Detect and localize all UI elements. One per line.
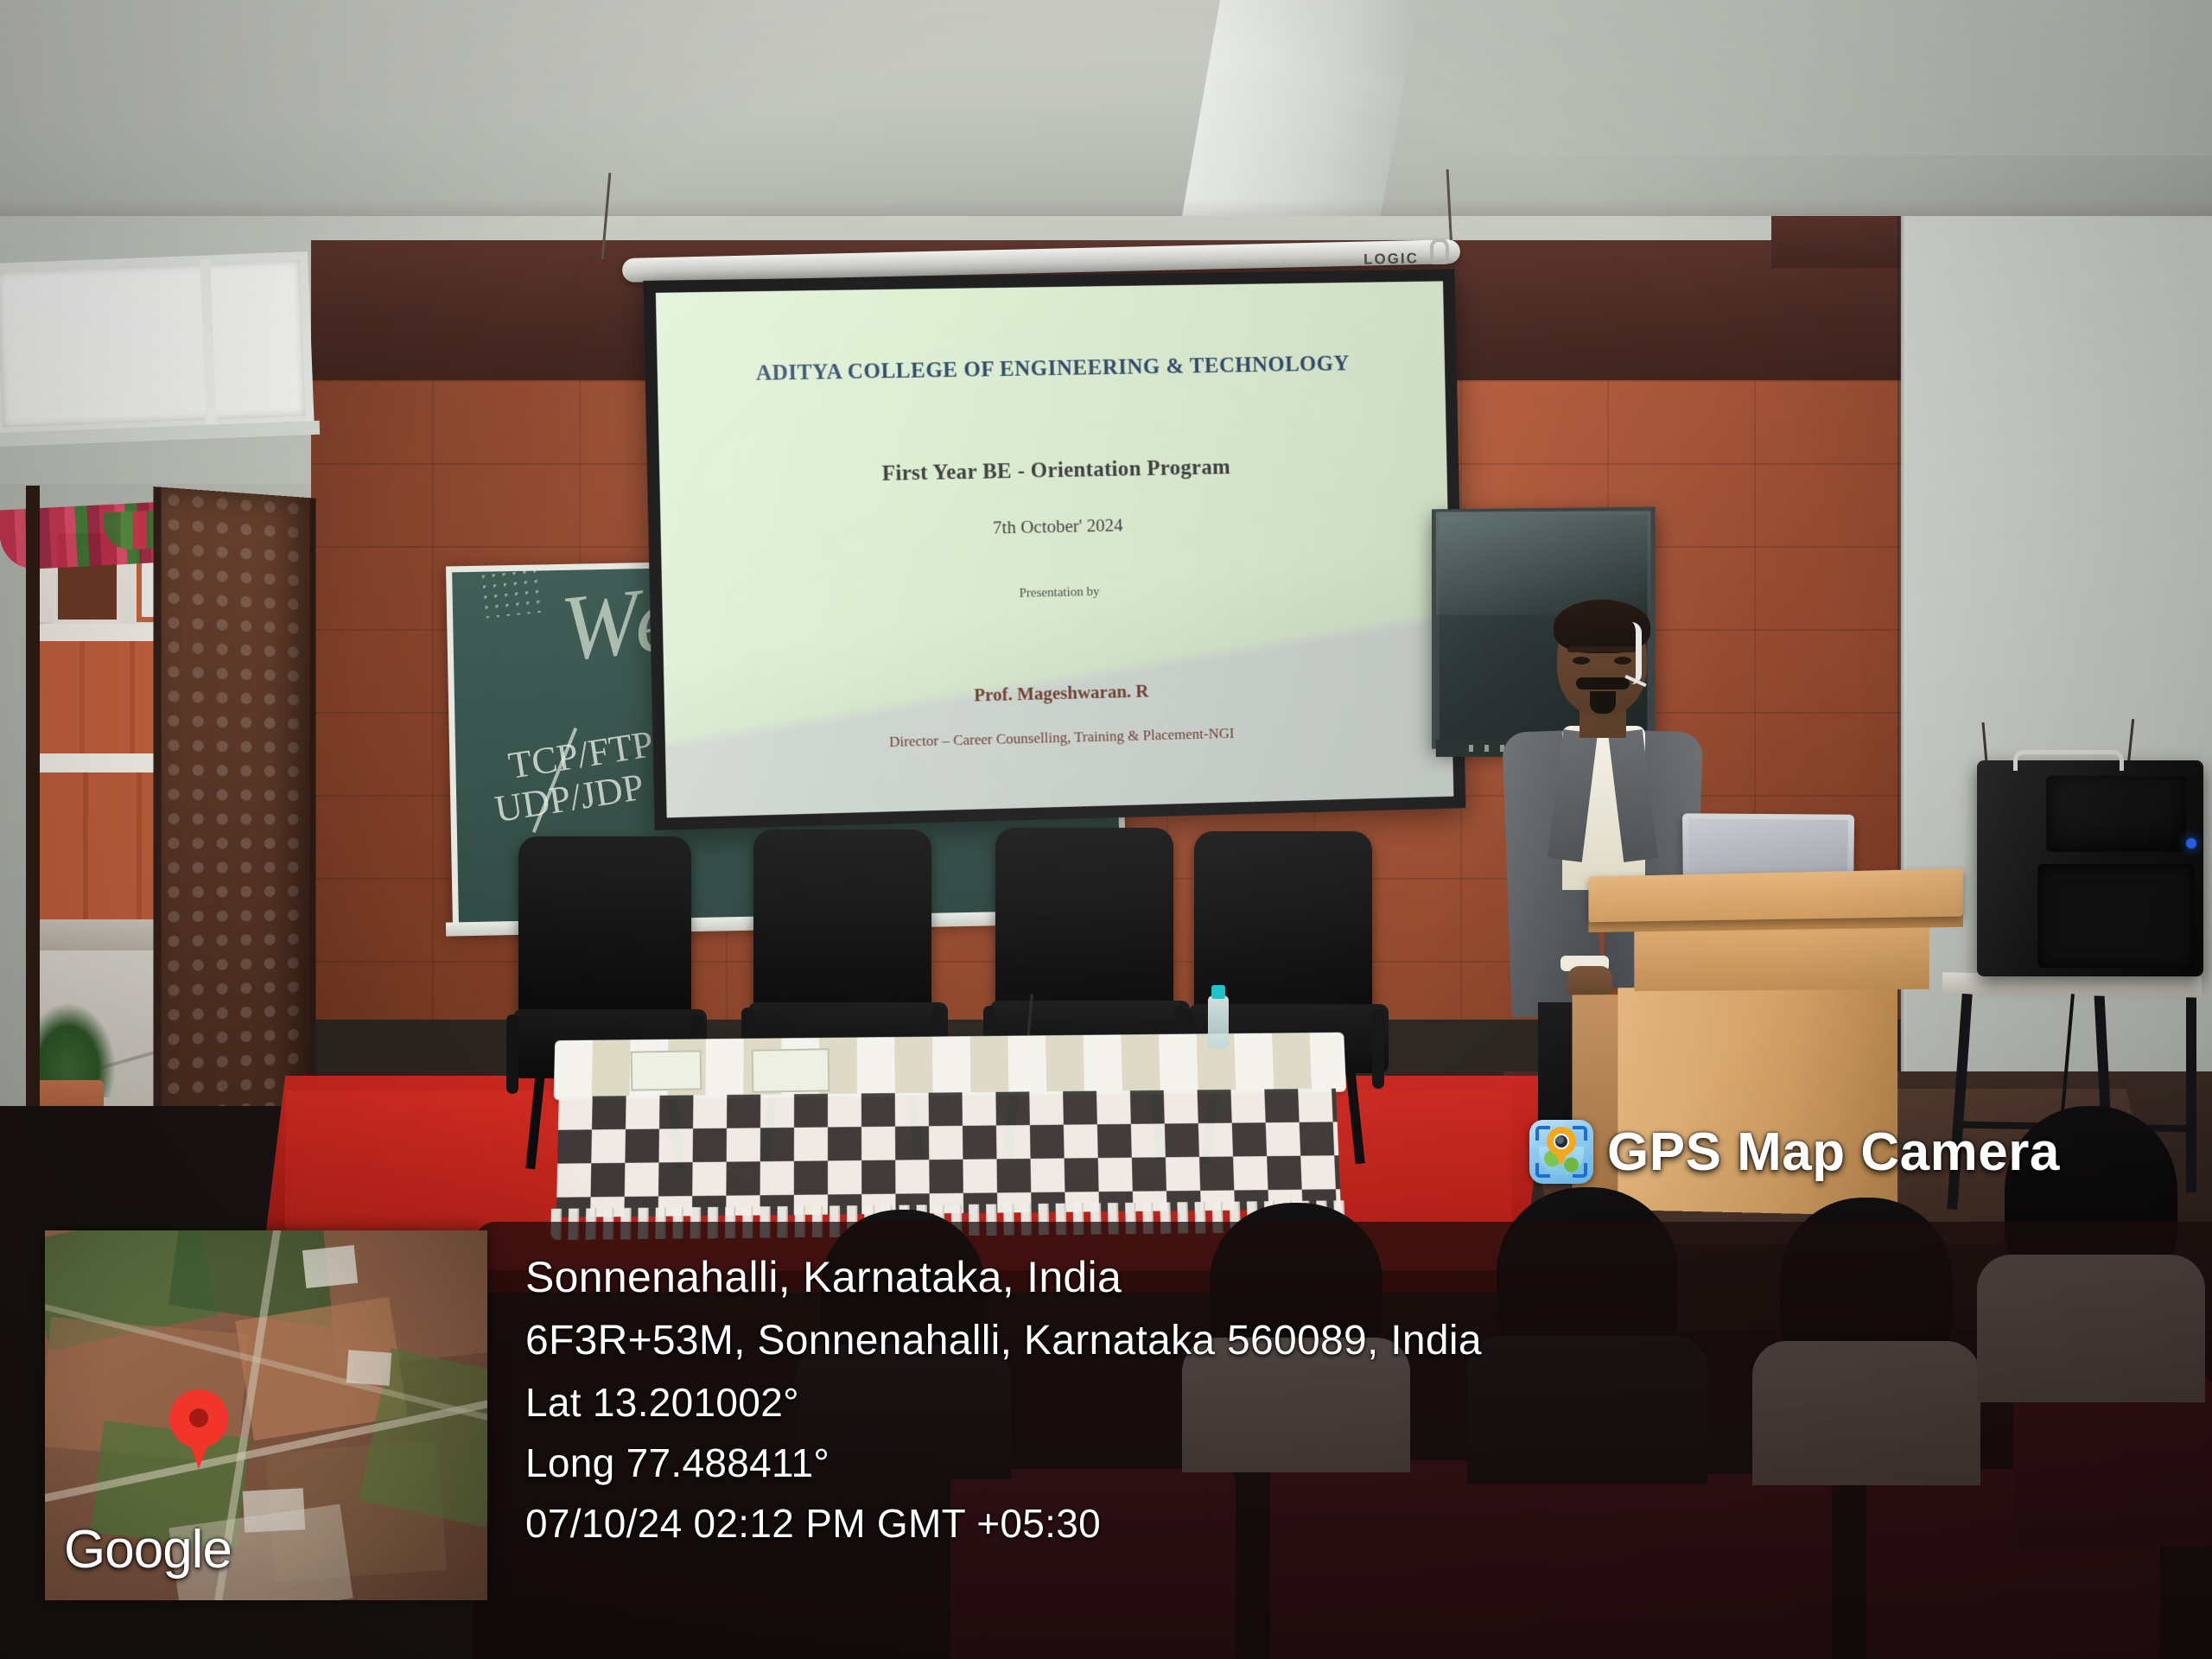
eye-left [1573,657,1590,664]
map-location-pin-icon [169,1389,228,1469]
gps-address: 6F3R+53M, Sonnenahalli, Karnataka 560089… [525,1310,2167,1373]
headset-mic-band [1631,622,1642,684]
stand-leg [2186,994,2196,1192]
pin-tail [1553,1147,1570,1166]
pa-speaker-grille [2037,864,2195,968]
chair-back [995,828,1173,1009]
eyebrows [1567,646,1637,652]
projected-slide: ADITYA COLLEGE OF ENGINEERING & TECHNOLO… [656,281,1454,817]
chair-arm-right [1372,1009,1384,1089]
gps-map-camera-icon [1529,1120,1593,1184]
name-card [631,1050,702,1090]
bottle-cap [1211,985,1225,999]
pin-center-dot [189,1408,208,1427]
table-cloth-front [556,1089,1341,1217]
slide-glare [656,281,1454,817]
map-pin-camera-icon [1547,1127,1576,1166]
display-glare [1436,511,1651,615]
gps-place-name: Sonnenahalli, Karnataka, India [525,1244,2167,1310]
power-led [2186,838,2196,849]
google-attribution-logo: Google [64,1519,232,1580]
photo-canvas: We TCP/FTP UDP/JDP LOGIC ADITYA COLLEGE … [0,0,2212,1659]
projector-screen: ADITYA COLLEGE OF ENGINEERING & TECHNOLO… [643,269,1465,830]
chair-back [518,836,691,1018]
name-card [752,1048,830,1093]
water-bottle [1208,995,1229,1049]
gps-timestamp: 07/10/24 02:12 PM GMT +05:30 [525,1494,2167,1554]
moustache [1576,677,1630,690]
gps-info-text: Sonnenahalli, Karnataka, India 6F3R+53M,… [525,1244,2167,1554]
podium-middle [1634,925,1929,991]
pin-tail [184,1429,213,1469]
gps-map-camera-watermark: GPS Map Camera [1529,1120,2060,1184]
camera-lens-icon [1554,1134,1569,1149]
chair-back [753,829,931,1011]
window [0,251,315,436]
pa-speaker-horn [2046,776,2186,852]
door-frame [26,486,40,1203]
goatee [1590,691,1616,714]
screen-hook [1430,238,1450,264]
chair-arm-left [506,1014,518,1094]
watermark-label: GPS Map Camera [1607,1122,2060,1183]
ceiling-beam [1182,0,1419,216]
pa-speaker-handle [2013,750,2124,771]
gps-latitude: Lat 13.201002° [525,1373,2167,1433]
podium-top [1588,868,1963,922]
eye-right [1614,657,1631,664]
right-wall [1901,216,2212,1210]
ceiling-slab [1400,0,2212,156]
gps-longitude: Long 77.488411° [525,1433,2167,1494]
